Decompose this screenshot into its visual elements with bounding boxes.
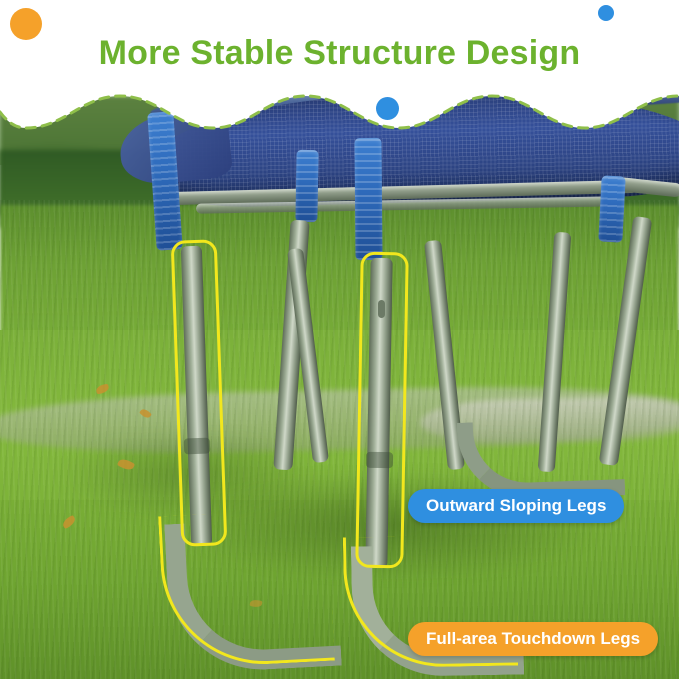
product-feature-poster: More Stable Structure Design Outward Slo… [0, 0, 679, 679]
blue-dot-small-decoration [598, 5, 614, 21]
post-pad-center [354, 138, 382, 260]
post-pad-center-left [295, 150, 318, 222]
blue-dot-medium-decoration [376, 97, 399, 120]
callout-full-area-touchdown-legs: Full-area Touchdown Legs [408, 622, 658, 656]
post-pad-right [598, 175, 625, 242]
product-photo [0, 0, 679, 679]
highlight-leg-center [355, 252, 409, 569]
callout-outward-sloping-legs: Outward Sloping Legs [408, 489, 624, 523]
orange-dot-decoration [10, 8, 42, 40]
